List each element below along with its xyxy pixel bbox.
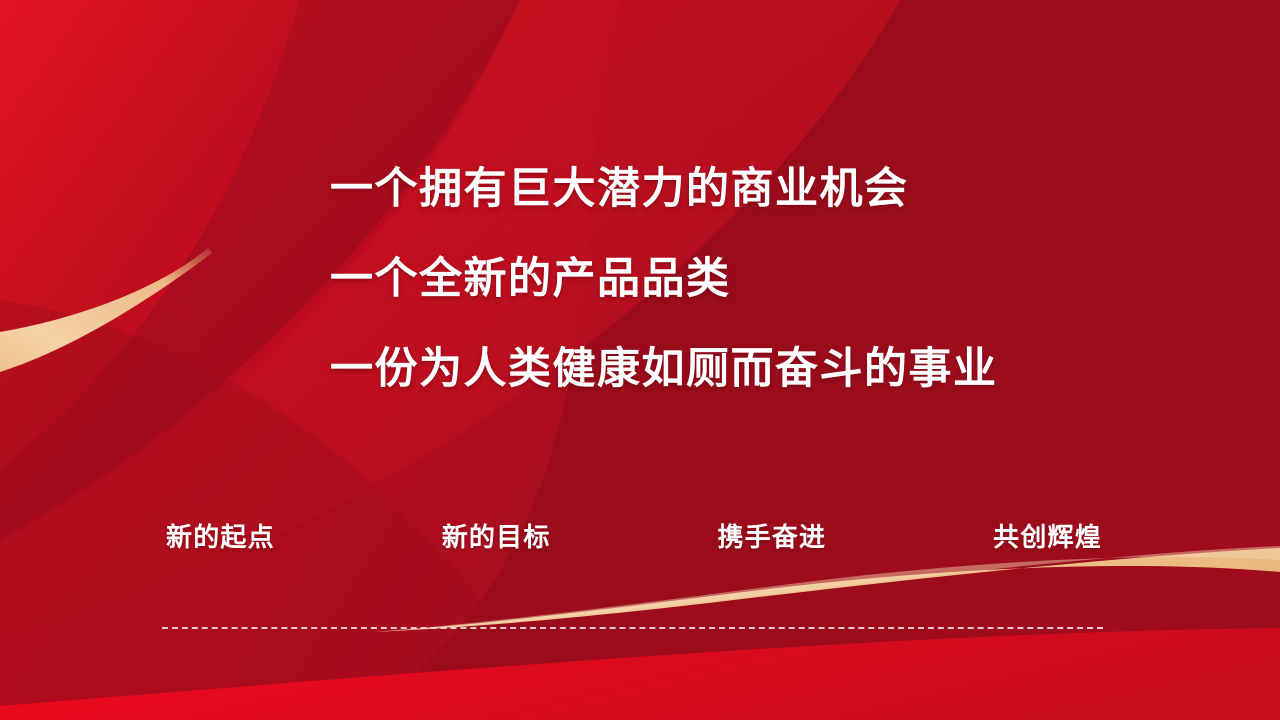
slogan-item-1: 新的起点 xyxy=(166,524,275,550)
headline-line-1: 一个拥有巨大潜力的商业机会 xyxy=(330,168,1190,211)
slogan-item-2: 新的目标 xyxy=(442,524,551,550)
slide-content: 一个拥有巨大潜力的商业机会 一个全新的产品品类 一份为人类健康如厕而奋斗的事业 … xyxy=(0,0,1280,720)
headline-group: 一个拥有巨大潜力的商业机会 一个全新的产品品类 一份为人类健康如厕而奋斗的事业 xyxy=(330,168,1190,391)
headline-line-3: 一份为人类健康如厕而奋斗的事业 xyxy=(330,348,1190,391)
headline-line-2: 一个全新的产品品类 xyxy=(330,258,1190,301)
slogan-item-4: 共创辉煌 xyxy=(993,524,1102,550)
presentation-slide: 一个拥有巨大潜力的商业机会 一个全新的产品品类 一份为人类健康如厕而奋斗的事业 … xyxy=(0,0,1280,720)
slogan-row: 新的起点 新的目标 携手奋进 共创辉煌 xyxy=(166,524,1102,550)
slogan-item-3: 携手奋进 xyxy=(717,524,826,550)
dashed-divider xyxy=(162,627,1103,629)
